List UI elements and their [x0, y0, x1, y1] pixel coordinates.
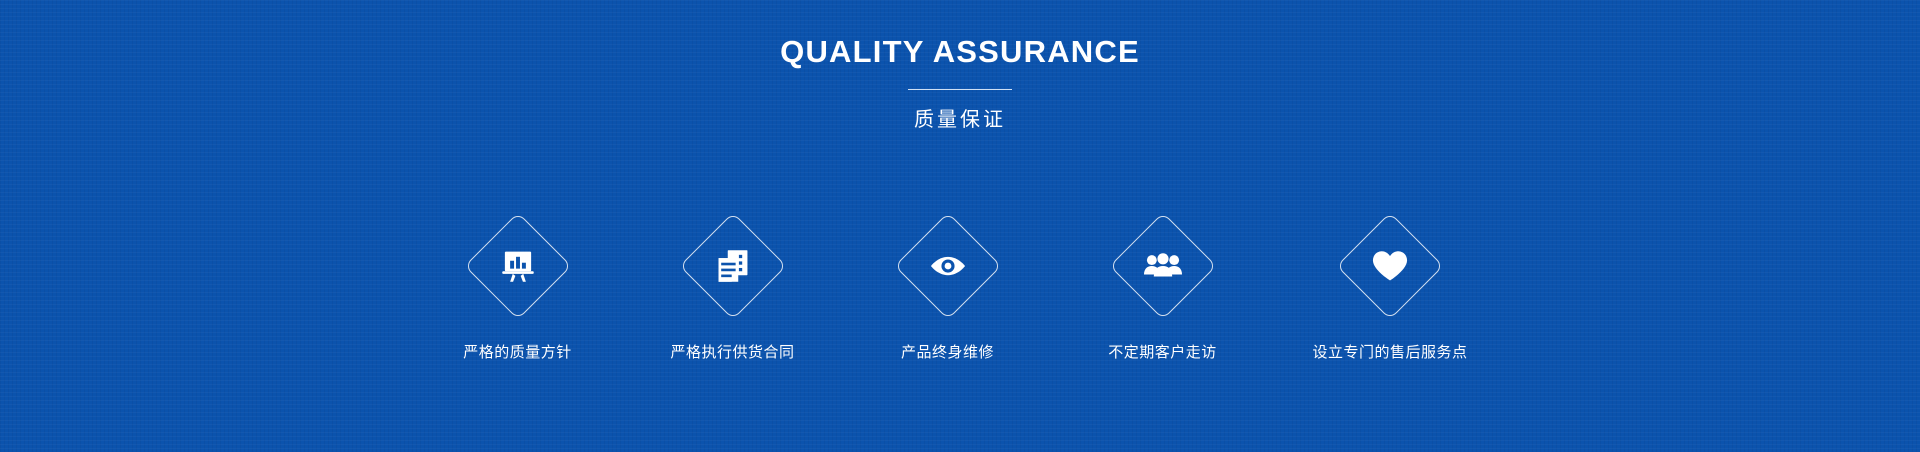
- diamond-frame: [1320, 196, 1460, 336]
- diamond-frame: [878, 196, 1018, 336]
- page-title-english: QUALITY ASSURANCE: [0, 36, 1920, 67]
- feature-item-customer-visits[interactable]: 不定期客户走访: [1055, 196, 1270, 362]
- feature-label: 严格执行供货合同: [670, 344, 794, 362]
- feature-item-supply-contract[interactable]: 严格执行供货合同: [625, 196, 840, 362]
- feature-label: 严格的质量方针: [463, 344, 572, 362]
- feature-label: 不定期客户走访: [1108, 344, 1217, 362]
- title-divider: [908, 89, 1012, 90]
- people-group-icon: [1142, 245, 1184, 287]
- feature-label: 产品终身维修: [901, 344, 994, 362]
- diamond-frame: [663, 196, 803, 336]
- eye-icon: [927, 245, 969, 287]
- feature-item-after-sales-service[interactable]: 设立专门的售后服务点: [1270, 196, 1510, 362]
- feature-item-quality-policy[interactable]: 严格的质量方针: [410, 196, 625, 362]
- page-title-chinese: 质量保证: [0, 110, 1920, 130]
- heart-icon: [1369, 245, 1411, 287]
- heading-block: QUALITY ASSURANCE 质量保证: [0, 36, 1920, 130]
- documents-contract-icon: [712, 245, 754, 287]
- feature-label: 设立专门的售后服务点: [1312, 344, 1467, 362]
- diamond-frame: [448, 196, 588, 336]
- presentation-chart-icon: [497, 245, 539, 287]
- quality-assurance-banner: QUALITY ASSURANCE 质量保证: [0, 0, 1920, 452]
- diamond-frame: [1093, 196, 1233, 336]
- feature-list: 严格的质量方针: [410, 196, 1510, 362]
- feature-item-lifetime-repair[interactable]: 产品终身维修: [840, 196, 1055, 362]
